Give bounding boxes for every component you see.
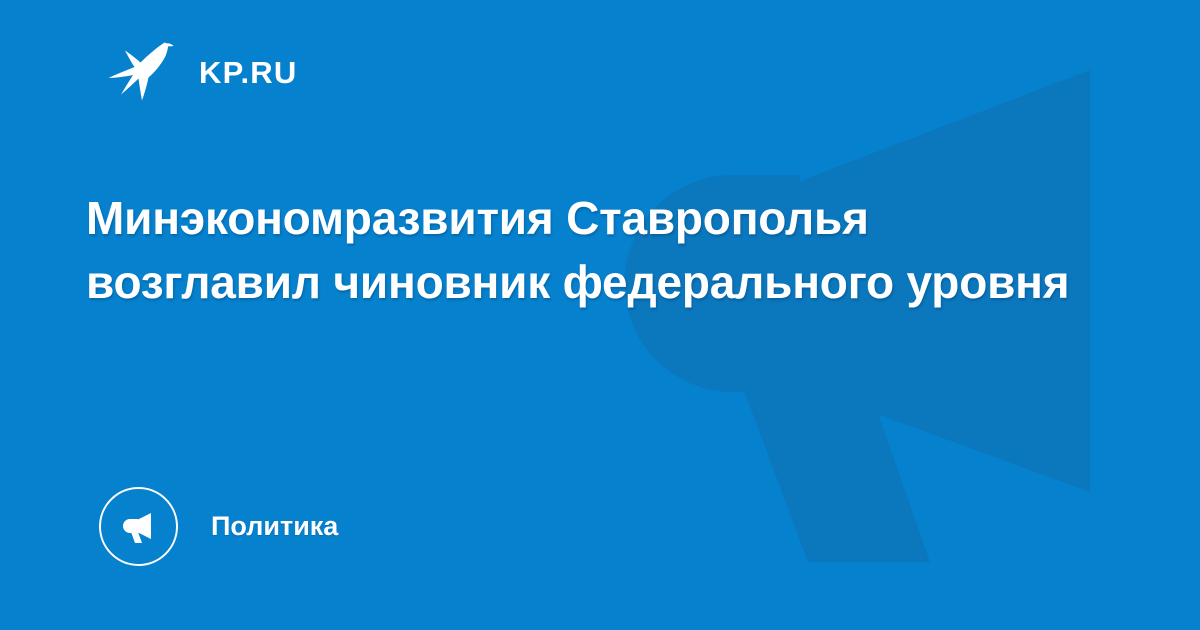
article-headline: Минэкономразвития Ставрополья возглавил … (86, 186, 1086, 314)
brand-name: KP.RU (199, 57, 297, 88)
category-label: Политика (211, 513, 338, 540)
brand-header[interactable]: KP.RU (103, 34, 297, 108)
article-share-card: KP.RU Минэкономразвития Ставрополья возг… (0, 0, 1200, 630)
swallow-bird-icon (103, 34, 177, 108)
megaphone-icon (117, 505, 161, 549)
category-badge (99, 487, 178, 566)
category-tag[interactable]: Политика (99, 487, 338, 566)
